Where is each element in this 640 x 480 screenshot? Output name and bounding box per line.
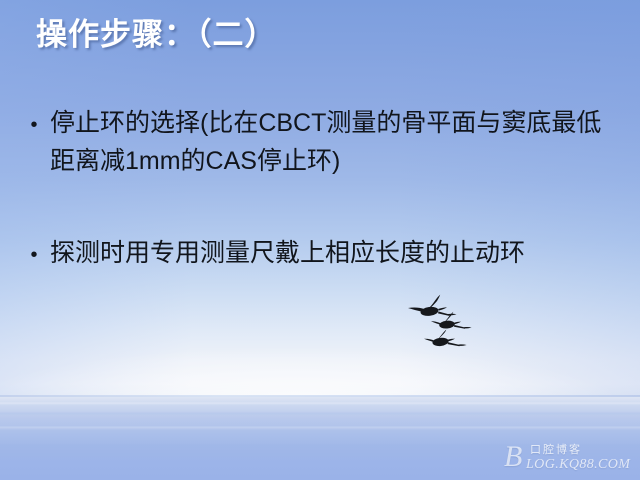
horizon-line [0,395,640,397]
slide-canvas: 操作步骤：（二） • 停止环的选择(比在CBCT测量的骨平面与窦底最低距离减1m… [0,0,640,480]
bullet-marker-icon: • [18,234,50,274]
bullet-text: 停止环的选择(比在CBCT测量的骨平面与窦底最低距离减1mm的CAS停止环) [50,104,622,180]
slide-body: • 停止环的选择(比在CBCT测量的骨平面与窦底最低距离减1mm的CAS停止环)… [18,104,622,274]
bullet-text: 探测时用专用测量尺戴上相应长度的止动环 [50,234,622,272]
bullet-item: • 停止环的选择(比在CBCT测量的骨平面与窦底最低距离减1mm的CAS停止环) [18,104,622,180]
bullet-marker-icon: • [18,104,50,144]
bullet-item: • 探测时用专用测量尺戴上相应长度的止动环 [18,234,622,274]
slide-title: 操作步骤：（二） [36,16,277,55]
sea-ripple-texture [0,396,640,480]
